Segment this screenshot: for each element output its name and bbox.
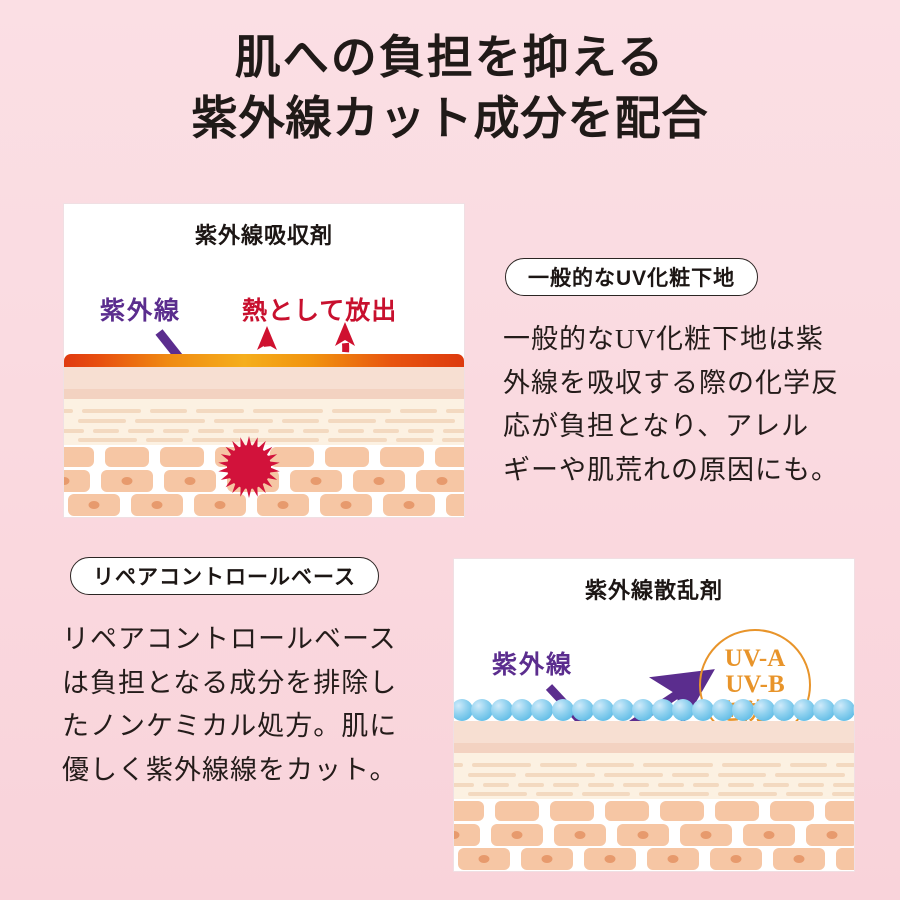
heat-burst <box>64 204 465 518</box>
fiber-dash <box>836 763 854 767</box>
body-line: は負担となる成分を排除し <box>62 662 442 706</box>
body-line: 外線を吸収する際の化学反 <box>503 362 873 406</box>
fiber-dash <box>588 783 614 787</box>
skin-cell <box>715 801 759 821</box>
badge-general-uv-base: 一般的なUV化粧下地 <box>505 258 758 296</box>
skin-fiber-layer <box>454 753 854 799</box>
skin-cell <box>770 801 814 821</box>
cell-nucleus <box>827 831 838 839</box>
skin-cell <box>554 824 606 846</box>
skin-cell-row <box>454 847 854 871</box>
scatter-particle <box>612 699 634 721</box>
skin-epidermis-layer <box>454 721 854 743</box>
body-line: 応が負担となり、アレル <box>503 405 873 449</box>
cell-nucleus <box>542 855 553 863</box>
fiber-dash <box>454 783 474 787</box>
skin-cell <box>660 801 704 821</box>
cell-nucleus <box>668 855 679 863</box>
fiber-dash <box>718 792 777 796</box>
uv-a-label: UV-A <box>725 646 786 673</box>
uv-b-label: UV-B <box>725 672 784 699</box>
cell-nucleus <box>605 855 616 863</box>
page-title: 肌への負担を抑える 紫外線カット成分を配合 <box>0 28 900 149</box>
skin-cell <box>743 824 795 846</box>
cell-nucleus <box>479 855 490 863</box>
fiber-dash <box>658 783 684 787</box>
scatter-particle <box>692 699 714 721</box>
skin-cross-section <box>454 699 854 871</box>
scatter-particle <box>813 699 835 721</box>
skin-cell <box>617 824 669 846</box>
body-line: 一般的なUV化粧下地は紫 <box>503 318 873 362</box>
skin-cell-row <box>454 799 854 823</box>
fiber-dash <box>525 773 595 777</box>
diagram-panel-scatterer: 紫外線散乱剤 紫外線 UV-A UV-B を防ぐ <box>453 558 855 872</box>
cell-nucleus <box>794 855 805 863</box>
skin-cell-row <box>454 823 854 847</box>
skin-cell <box>550 801 594 821</box>
fiber-dash <box>468 773 516 777</box>
skin-cell <box>458 848 510 870</box>
body-line: 優しく紫外線線をカット。 <box>62 749 442 793</box>
fiber-dash <box>586 763 634 767</box>
body-repair-control-base: リペアコントロールベース は負担となる成分を排除し たノンケミカル処方。肌に 優… <box>62 618 442 793</box>
skin-cell <box>491 824 543 846</box>
page-title-line-2: 紫外線カット成分を配合 <box>0 89 900 150</box>
scatter-particle <box>773 699 795 721</box>
cell-nucleus <box>764 831 775 839</box>
fiber-dash <box>518 783 544 787</box>
fiber-dash <box>454 763 463 767</box>
fiber-dash <box>483 783 509 787</box>
skin-cell <box>836 848 854 870</box>
fiber-dash <box>553 783 579 787</box>
scatter-particle <box>531 699 553 721</box>
fiber-dash <box>728 783 754 787</box>
fiber-dash <box>623 783 649 787</box>
fiber-dash <box>672 773 709 777</box>
scatter-particle <box>652 699 674 721</box>
page-title-line-1: 肌への負担を抑える <box>0 28 900 89</box>
scatter-particle <box>511 699 533 721</box>
skin-cell <box>454 801 484 821</box>
cell-nucleus <box>454 831 460 839</box>
fiber-dash <box>468 792 527 796</box>
fiber-dash <box>540 763 577 767</box>
scatter-particle <box>572 699 594 721</box>
skin-cell <box>806 824 854 846</box>
body-line: たノンケミカル処方。肌に <box>62 705 442 749</box>
cell-nucleus <box>731 855 742 863</box>
fiber-dash <box>604 773 663 777</box>
scatter-particle <box>453 699 473 721</box>
scatter-particle <box>592 699 614 721</box>
scatterer-particle-layer <box>454 699 854 721</box>
scatter-particle <box>793 699 815 721</box>
fiber-dash <box>790 763 827 767</box>
fiber-dash <box>536 792 573 796</box>
fiber-dash <box>472 763 531 767</box>
scatter-particle <box>632 699 654 721</box>
fiber-dash <box>718 773 766 777</box>
fiber-dash <box>775 773 845 777</box>
diagram-panel-absorber: 紫外線吸収剤 紫外線 熱として放出 <box>63 203 465 518</box>
skin-cell <box>584 848 636 870</box>
fiber-dash <box>833 783 854 787</box>
skin-cell <box>605 801 649 821</box>
scatter-particle <box>552 699 574 721</box>
skin-cell <box>521 848 573 870</box>
scatter-particle <box>833 699 855 721</box>
skin-subepidermis-layer <box>454 743 854 753</box>
body-general-uv-base: 一般的なUV化粧下地は紫 外線を吸収する際の化学反 応が負担となり、アレル ギー… <box>503 318 873 493</box>
scatter-particle <box>732 699 754 721</box>
fiber-dash <box>798 783 824 787</box>
scatter-particle <box>491 699 513 721</box>
scatter-particle <box>712 699 734 721</box>
fiber-dash <box>722 763 781 767</box>
fiber-dash <box>832 792 854 796</box>
body-line: ギーや肌荒れの原因にも。 <box>503 449 873 493</box>
skin-cell <box>710 848 762 870</box>
fiber-dash <box>639 792 709 796</box>
scatter-particle <box>753 699 775 721</box>
cell-nucleus <box>638 831 649 839</box>
skin-cell <box>647 848 699 870</box>
cell-nucleus <box>512 831 523 839</box>
skin-cell <box>454 824 480 846</box>
cell-nucleus <box>575 831 586 839</box>
body-line: リペアコントロールベース <box>62 618 442 662</box>
fiber-dash <box>643 763 713 767</box>
skin-cell <box>495 801 539 821</box>
fiber-dash <box>693 783 719 787</box>
skin-cell <box>773 848 825 870</box>
skin-cell <box>680 824 732 846</box>
skin-cell <box>825 801 854 821</box>
scatter-particle <box>672 699 694 721</box>
badge-repair-control-base: リペアコントロールベース <box>70 557 379 595</box>
fiber-dash <box>786 792 823 796</box>
fiber-dash <box>763 783 789 787</box>
scatter-particle <box>853 699 855 721</box>
cell-nucleus <box>701 831 712 839</box>
fiber-dash <box>582 792 630 796</box>
scatter-particle <box>471 699 493 721</box>
